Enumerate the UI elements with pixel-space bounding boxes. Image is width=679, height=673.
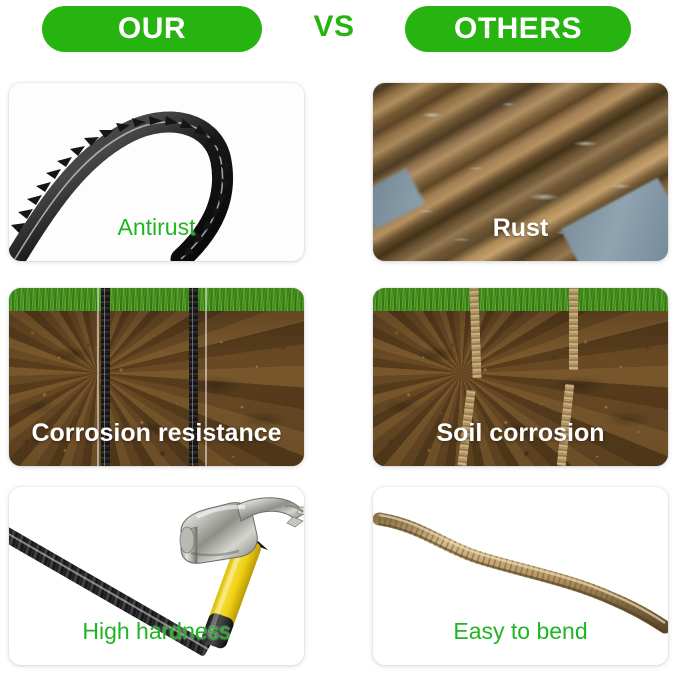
- others-badge: OTHERS: [405, 6, 631, 52]
- grass-layer: [9, 288, 304, 311]
- others-badge-label: OTHERS: [454, 14, 582, 44]
- broken-stake-right-upper: [569, 288, 578, 370]
- our-badge-label: OUR: [118, 14, 186, 44]
- caption-antirust: Antirust: [9, 216, 304, 239]
- bent-rebar-shadow: [379, 524, 665, 632]
- caption-easy-to-bend: Easy to bend: [373, 620, 668, 643]
- caption-corrosion-resistance: Corrosion resistance: [9, 421, 304, 446]
- hammer-head: [180, 498, 304, 564]
- card-ours-antirust: Antirust: [9, 83, 304, 261]
- card-ours-corrosion-resistance: Corrosion resistance: [9, 288, 304, 466]
- vs-label: VS: [298, 10, 370, 44]
- caption-rust: Rust: [373, 216, 668, 241]
- grass-layer: [373, 288, 668, 311]
- our-badge: OUR: [42, 6, 262, 52]
- comparison-infographic: OUR VS OTHERS: [0, 0, 679, 673]
- caption-high-hardness: High hardness: [9, 620, 304, 643]
- card-theirs-soil-corrosion: Soil corrosion: [373, 288, 668, 466]
- card-ours-high-hardness: High hardness: [9, 487, 304, 665]
- header: OUR VS OTHERS: [0, 0, 679, 62]
- card-theirs-easy-to-bend: Easy to bend: [373, 487, 668, 665]
- caption-soil-corrosion: Soil corrosion: [373, 421, 668, 446]
- card-theirs-rust: Rust: [373, 83, 668, 261]
